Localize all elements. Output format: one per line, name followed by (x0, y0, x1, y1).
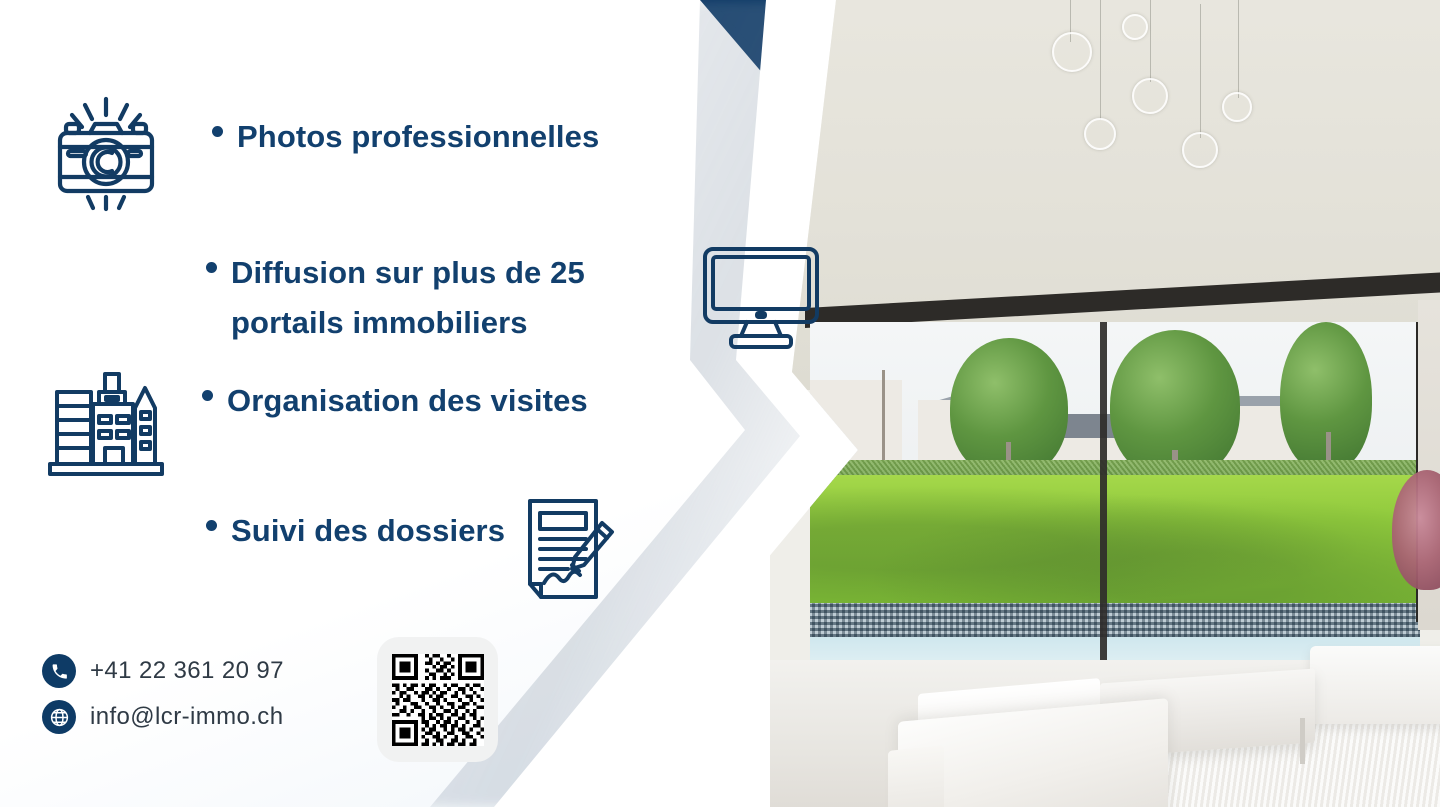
pendant-lamp-icon (1122, 14, 1148, 40)
globe-icon (42, 700, 76, 734)
pendant-lamp-icon (1182, 132, 1218, 168)
feature-item-visites: Organisation des visites (202, 376, 672, 426)
camera-icon (54, 95, 158, 213)
phone-number: +41 22 361 20 97 (90, 657, 284, 685)
email-address: info@lcr-immo.ch (90, 703, 283, 731)
table-leg (1300, 718, 1305, 764)
feature-label: Suivi des dossiers (231, 506, 505, 556)
pendant-lamp-icon (1132, 78, 1168, 114)
lamp-wire (1100, 0, 1101, 120)
monitor-icon (700, 245, 822, 349)
tree-trunk (882, 370, 885, 474)
promo-banner: Photos professionnelles Diffusion sur pl… (0, 0, 1440, 807)
qr-code-image (392, 654, 484, 746)
bullet-icon (206, 262, 217, 273)
window-mullion (1100, 322, 1107, 667)
feature-label: Organisation des visites (227, 376, 588, 426)
armchair-armrest (888, 745, 944, 807)
feature-item-photos: Photos professionnelles (212, 112, 682, 162)
phone-icon (42, 654, 76, 688)
lamp-wire (1200, 4, 1201, 138)
contact-block: +41 22 361 20 97 info@lcr-immo.ch (42, 648, 372, 740)
pendant-lamp-icon (1052, 32, 1092, 72)
lamp-wire (1150, 0, 1151, 82)
bullet-icon (202, 390, 213, 401)
feature-item-dossiers: Suivi des dossiers (206, 506, 646, 556)
content-column: Photos professionnelles Diffusion sur pl… (0, 0, 700, 807)
feature-label: Diffusion sur plus de 25 portails immobi… (231, 248, 696, 348)
lamp-wire (1238, 0, 1239, 98)
pendant-lamp-icon (1084, 118, 1116, 150)
sofa (1310, 646, 1440, 724)
feature-label: Photos professionnelles (237, 112, 599, 162)
qr-code[interactable] (377, 637, 498, 762)
lawn (810, 475, 1420, 607)
feature-item-diffusion: Diffusion sur plus de 25 portails immobi… (206, 248, 696, 348)
window-view (810, 322, 1420, 667)
contact-row-email[interactable]: info@lcr-immo.ch (42, 694, 372, 740)
bullet-icon (206, 520, 217, 531)
bullet-icon (212, 126, 223, 137)
buildings-icon (47, 368, 165, 478)
pendant-lamp-icon (1222, 92, 1252, 122)
contact-row-phone[interactable]: +41 22 361 20 97 (42, 648, 372, 694)
